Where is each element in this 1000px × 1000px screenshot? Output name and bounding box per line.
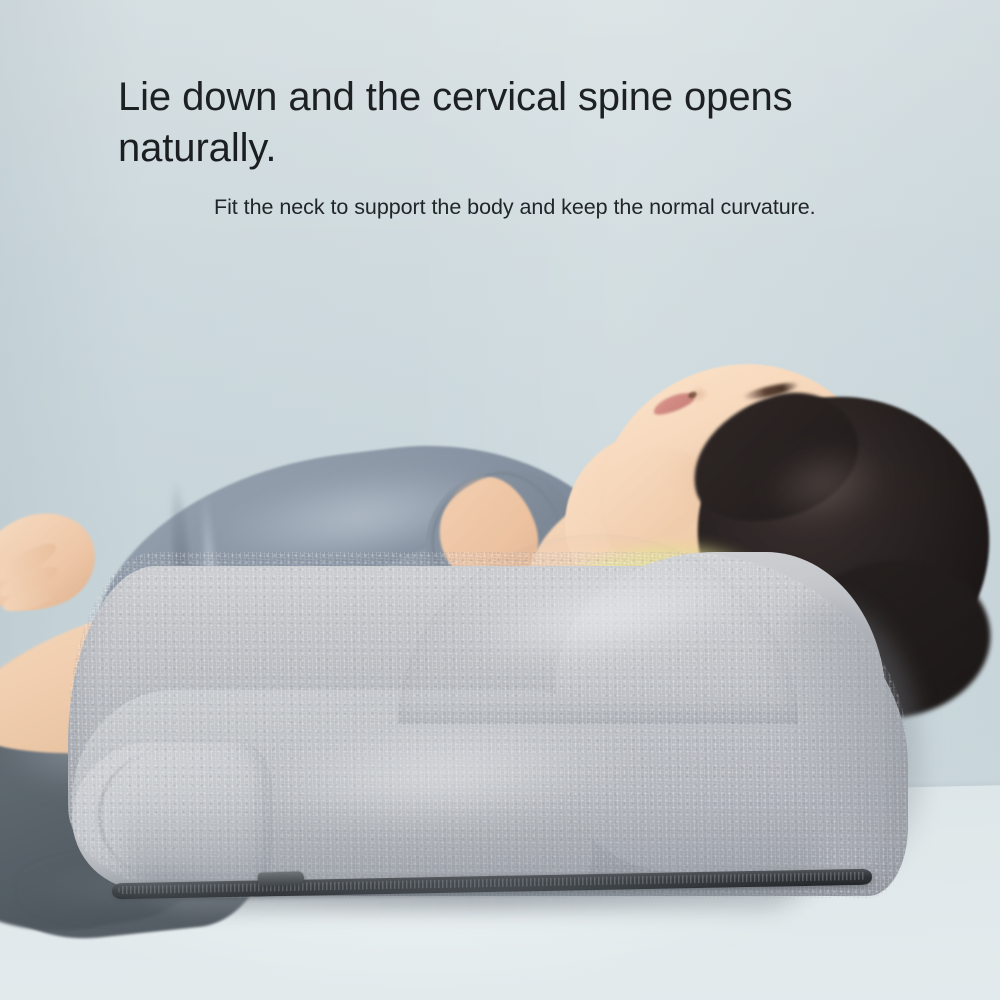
product-banner: Lie down and the cervical spine opens na… [0, 0, 1000, 1000]
headline: Lie down and the cervical spine opens na… [118, 72, 978, 174]
subheadline: Fit the neck to support the body and kee… [214, 194, 978, 222]
marketing-copy: Lie down and the cervical spine opens na… [118, 72, 978, 222]
